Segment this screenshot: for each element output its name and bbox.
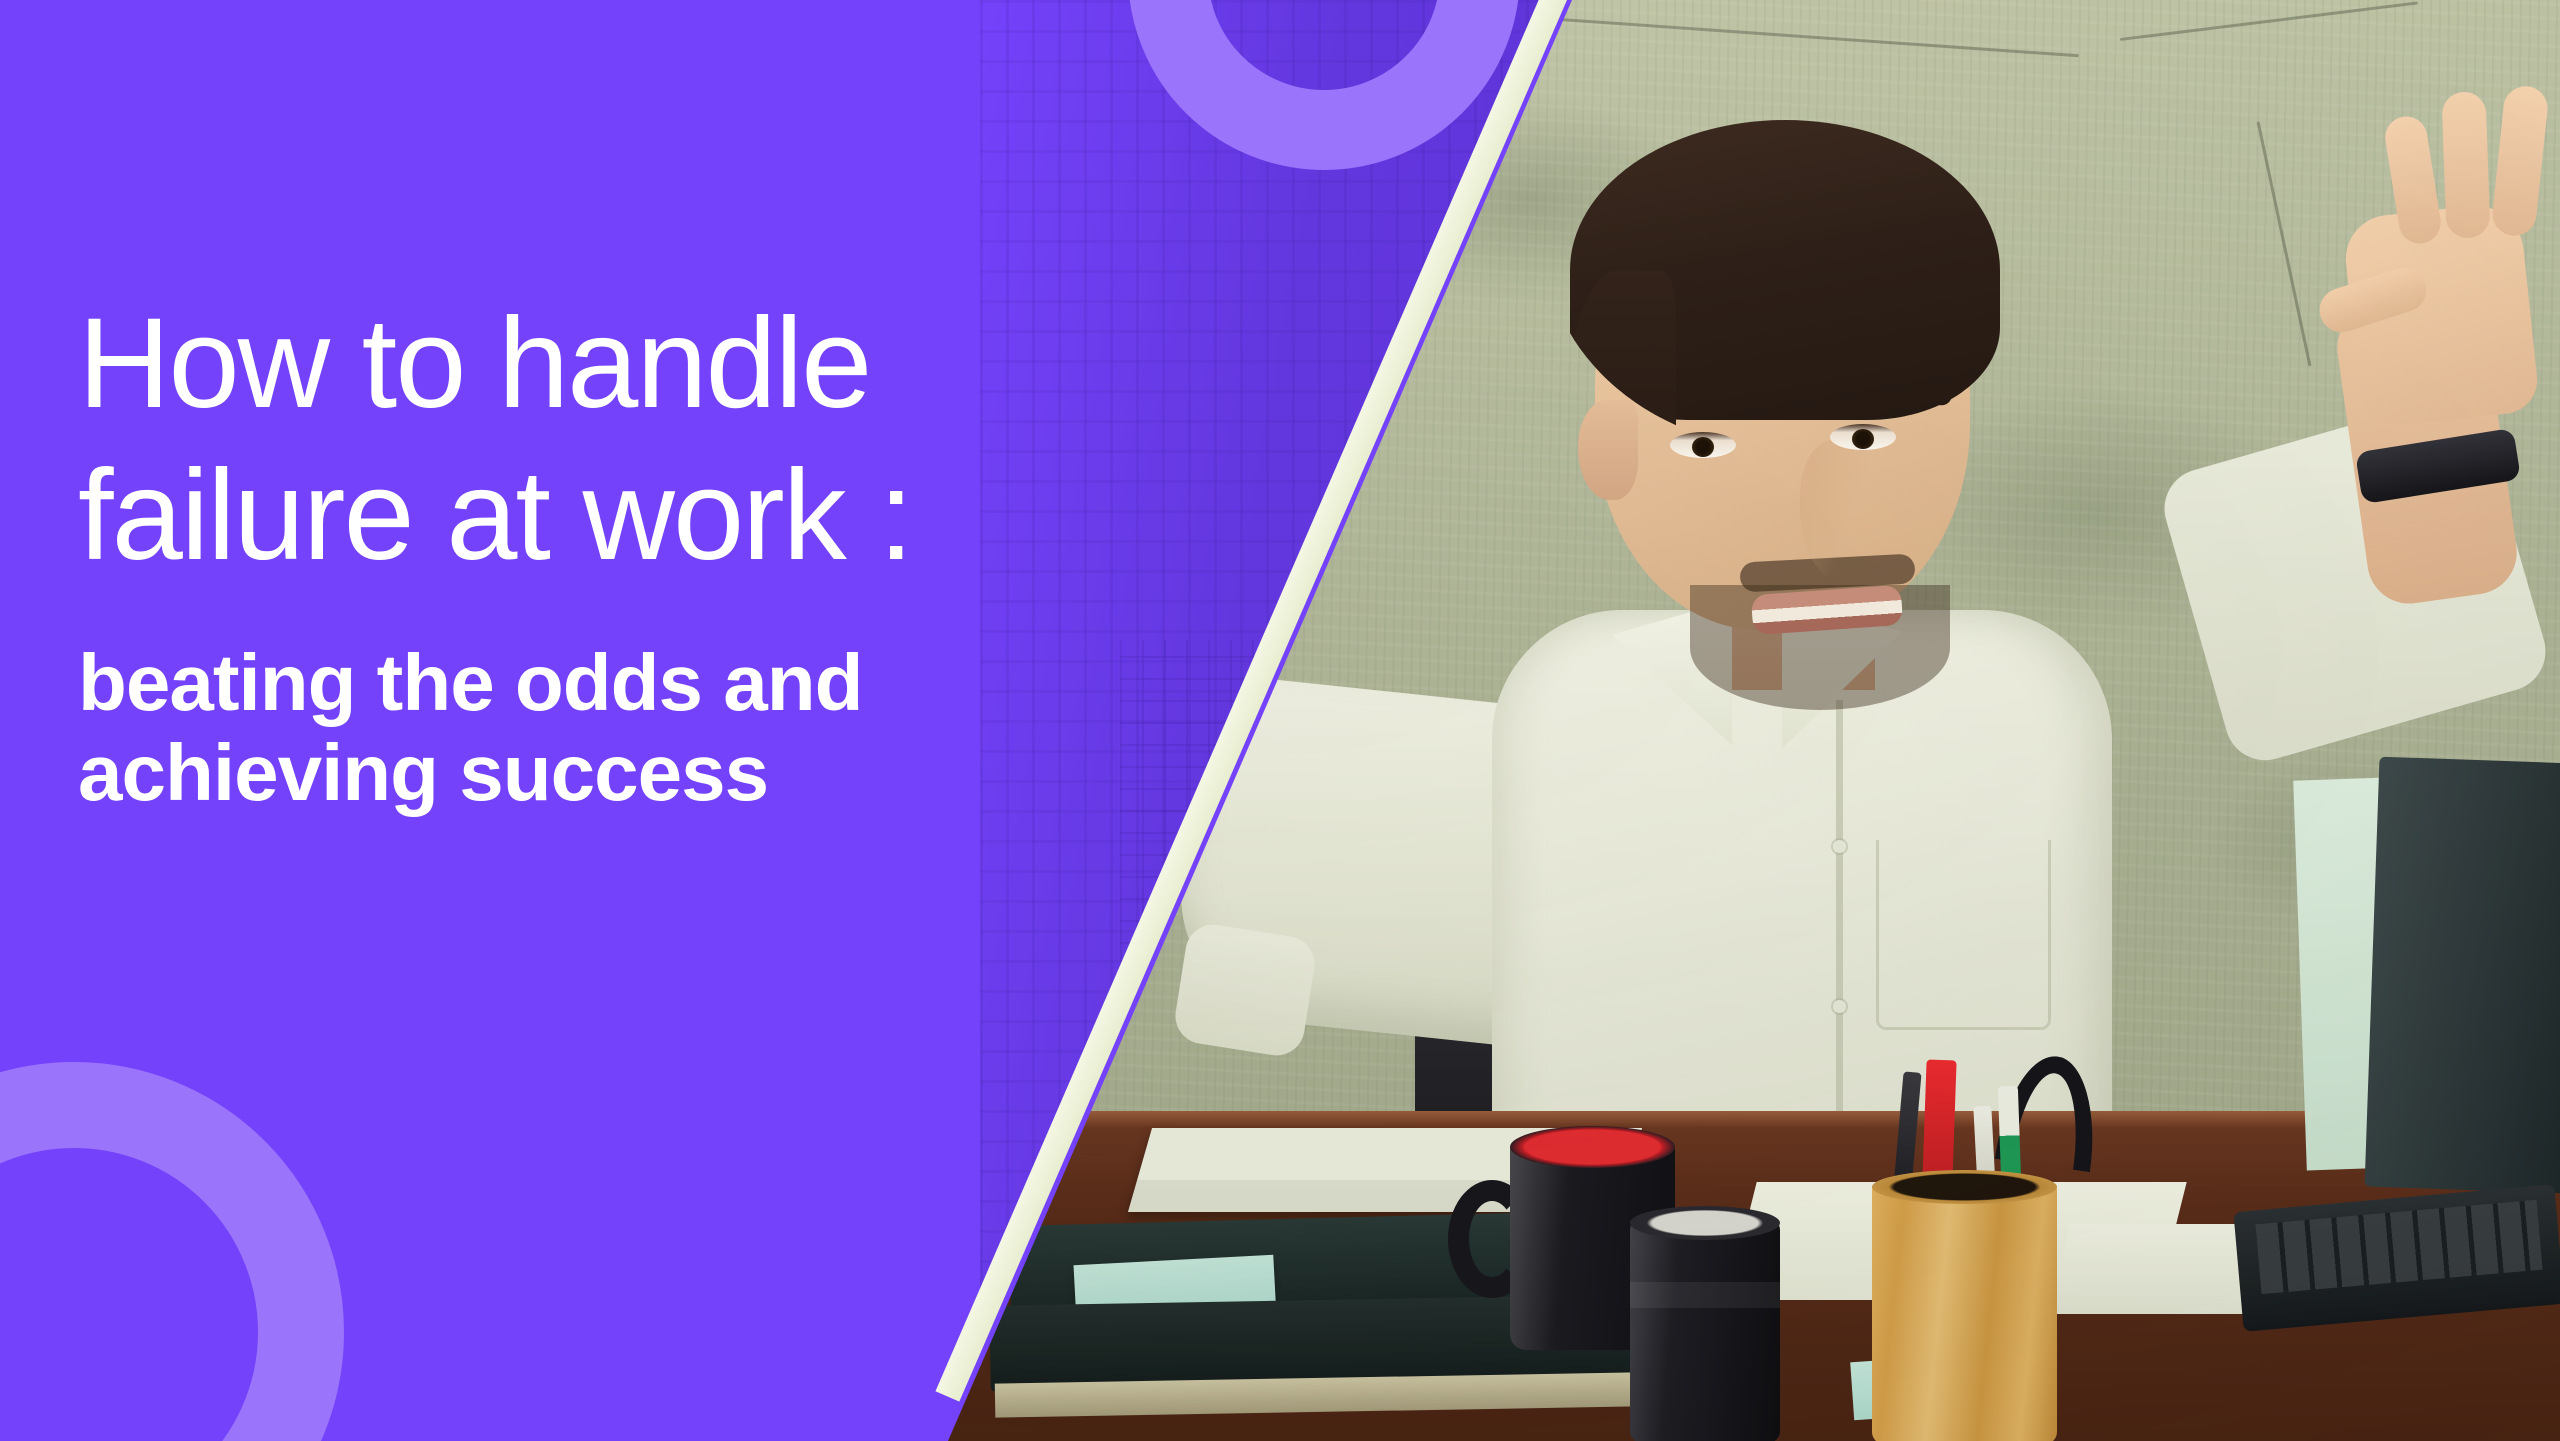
mug-rim [1510,1126,1675,1168]
finger [2441,91,2490,238]
black-camera-lens [1630,1218,1780,1441]
blog-banner: How to handle failure at work : beating … [0,0,2560,1441]
headline-block: How to handle failure at work : beating … [78,300,1258,817]
title-line-1: How to handle [78,300,1258,428]
left-shirt-cuff [1171,921,1318,1060]
shirt-button [1833,840,1846,853]
eye-right [1830,424,1896,450]
subtitle-line-1: beating the odds and [78,638,1258,728]
shirt-pocket [1876,840,2051,1030]
laptop-screen [2365,757,2560,1194]
iris [1852,429,1874,449]
shirt-button [1833,1000,1846,1013]
subtitle-line-2: achieving success [78,728,1258,818]
hair [1570,120,2000,420]
ear [1578,400,1638,500]
nose [1800,440,1882,580]
shirt-placket [1836,700,1843,1170]
eye-left [1670,432,1736,458]
iris [1692,437,1714,457]
lens-cap [1630,1206,1780,1240]
wooden-pen-holder [1872,1182,2057,1441]
title-line-2: failure at work : [78,452,1258,580]
ring-decor-bottom-left-icon [0,1062,344,1441]
